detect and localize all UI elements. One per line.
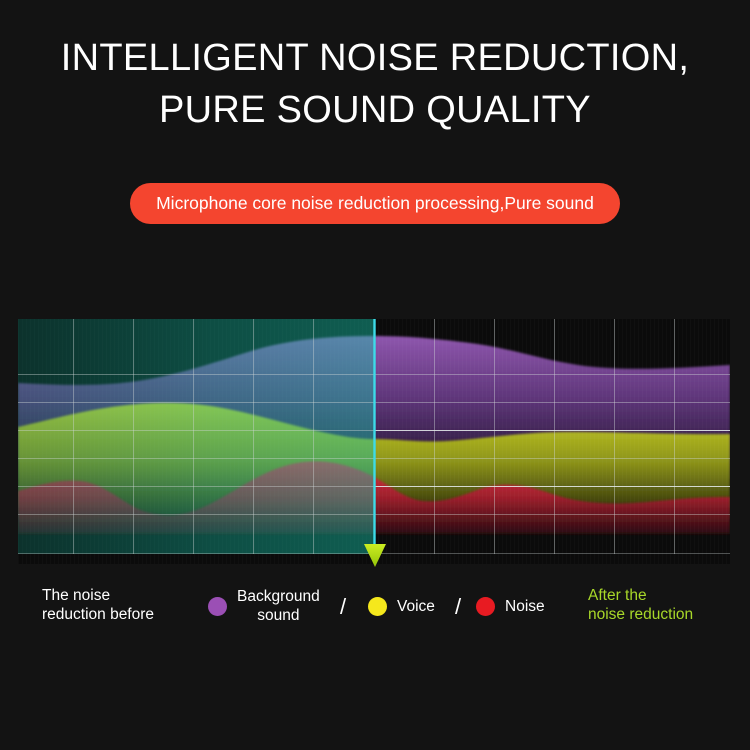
circle-dot-icon [368,597,387,616]
legend-item-label: Noise [505,597,545,616]
spectrum-chart [18,319,730,564]
circle-dot-icon [476,597,495,616]
before-region-tint [18,319,374,554]
chart-legend: The noise reduction before Background so… [0,578,750,634]
subtitle-pill: Microphone core noise reduction processi… [130,183,620,224]
legend-separator: / [455,596,461,618]
legend-before-label: The noise reduction before [42,586,154,624]
legend-item-voice: Voice [368,597,435,616]
down-arrow-icon [359,543,391,569]
legend-item-background-sound: Background sound [208,587,320,625]
legend-item-noise: Noise [476,597,545,616]
legend-separator: / [340,596,346,618]
legend-item-label: Voice [397,597,435,616]
subtitle-banner: Microphone core noise reduction processi… [0,183,750,224]
legend-items: Background sound / Voice / Noise [208,586,558,628]
circle-dot-icon [208,597,227,616]
spectrum-chart-svg [18,319,730,564]
promo-page: INTELLIGENT NOISE REDUCTION, PURE SOUND … [0,0,750,750]
legend-item-label: Background sound [237,587,320,625]
legend-after-label: After the noise reduction [588,586,693,624]
page-title: INTELLIGENT NOISE REDUCTION, PURE SOUND … [0,32,750,136]
